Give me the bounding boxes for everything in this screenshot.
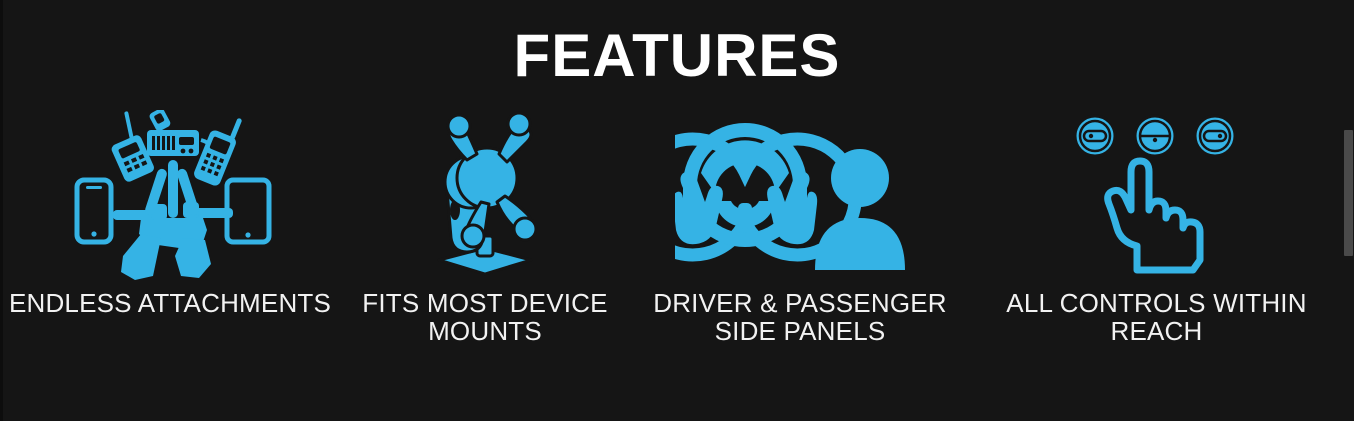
feature-item-endless-attachments: ENDLESS ATTACHMENTS <box>0 110 340 317</box>
features-row: ENDLESS ATTACHMENTS <box>0 110 1343 345</box>
feature-item-driver-passenger-side-panels: DRIVER & PASSENGER SIDE PANELS <box>630 110 970 345</box>
control-knob-icon <box>1135 116 1175 156</box>
feature-item-fits-most-device-mounts: FITS MOST DEVICE MOUNTS <box>340 110 630 345</box>
feature-caption: ENDLESS ATTACHMENTS <box>5 289 335 317</box>
pointing-hand-with-knobs-icon <box>1067 110 1247 285</box>
steering-wheel-hands-passenger-icon <box>675 110 925 285</box>
vertical-scrollbar[interactable] <box>1343 0 1354 421</box>
multi-arm-device-mount-icon <box>55 110 285 285</box>
feature-caption: DRIVER & PASSENGER SIDE PANELS <box>650 289 950 345</box>
x-grip-cradle-mount-icon <box>415 110 555 285</box>
control-knob-icon <box>1075 116 1115 156</box>
feature-caption: ALL CONTROLS WITHIN REACH <box>997 289 1317 345</box>
cb-radio-device <box>147 110 213 156</box>
feature-item-all-controls-within-reach: ALL CONTROLS WITHIN REACH <box>970 110 1343 345</box>
scrollbar-thumb[interactable] <box>1344 130 1353 256</box>
features-section: FEATURES <box>0 0 1354 421</box>
pointing-hand-icon <box>1107 161 1199 270</box>
feature-caption: FITS MOST DEVICE MOUNTS <box>350 289 620 345</box>
control-knob-icon <box>1195 116 1235 156</box>
page-title: FEATURES <box>0 26 1354 86</box>
